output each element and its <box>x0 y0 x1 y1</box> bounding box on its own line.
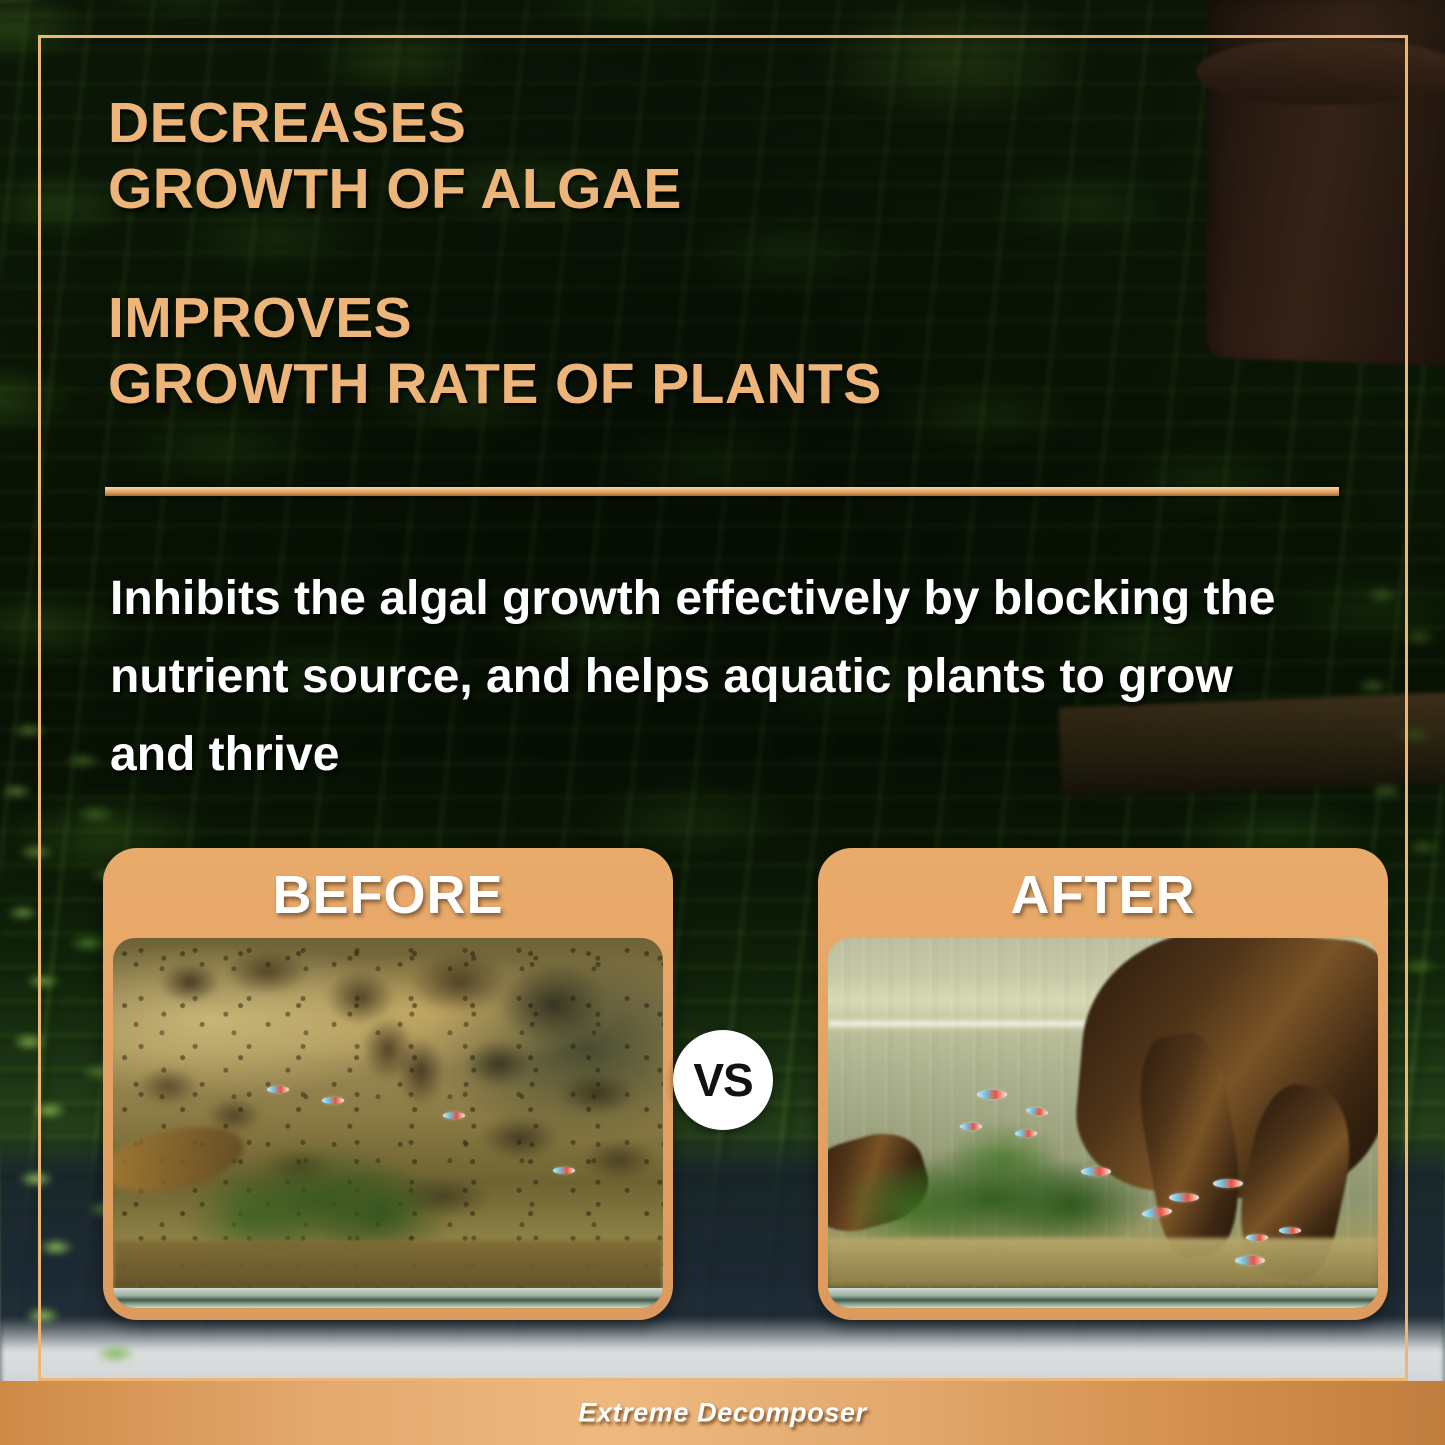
footer-bar: Extreme Decomposer <box>0 1381 1445 1445</box>
after-substrate <box>828 1238 1378 1286</box>
headline-line-4: GROWTH RATE OF PLANTS <box>108 351 882 417</box>
after-panel-title: AFTER <box>818 864 1388 926</box>
before-tank-rim <box>113 1288 663 1308</box>
after-fish <box>1246 1234 1268 1241</box>
after-aquarium-photo <box>828 938 1378 1308</box>
after-fish <box>1213 1179 1243 1188</box>
after-fish <box>977 1090 1007 1099</box>
after-fish <box>960 1123 982 1130</box>
before-substrate <box>113 1241 663 1289</box>
before-panel: BEFORE <box>103 848 673 1320</box>
after-fish <box>1279 1227 1301 1234</box>
headline-block-improves-growth: IMPROVES GROWTH RATE OF PLANTS <box>108 285 882 417</box>
body-paragraph: Inhibits the algal growth effectively by… <box>110 560 1310 794</box>
before-panel-title: BEFORE <box>103 864 673 926</box>
before-aquarium-photo <box>113 938 663 1308</box>
headline-line-1: DECREASES <box>108 90 682 156</box>
headline-line-2: GROWTH OF ALGAE <box>108 156 682 222</box>
after-panel: AFTER <box>818 848 1388 1320</box>
vs-badge: VS <box>673 1030 773 1130</box>
after-tank-rim <box>828 1288 1378 1308</box>
product-name: Extreme Decomposer <box>0 1398 1445 1429</box>
before-fish <box>443 1112 465 1119</box>
vs-label: VS <box>693 1053 752 1107</box>
headline-line-3: IMPROVES <box>108 285 882 351</box>
gold-divider-line <box>105 487 1339 496</box>
headline-block-decreases-algae: DECREASES GROWTH OF ALGAE <box>108 90 682 222</box>
before-fish <box>267 1086 289 1093</box>
